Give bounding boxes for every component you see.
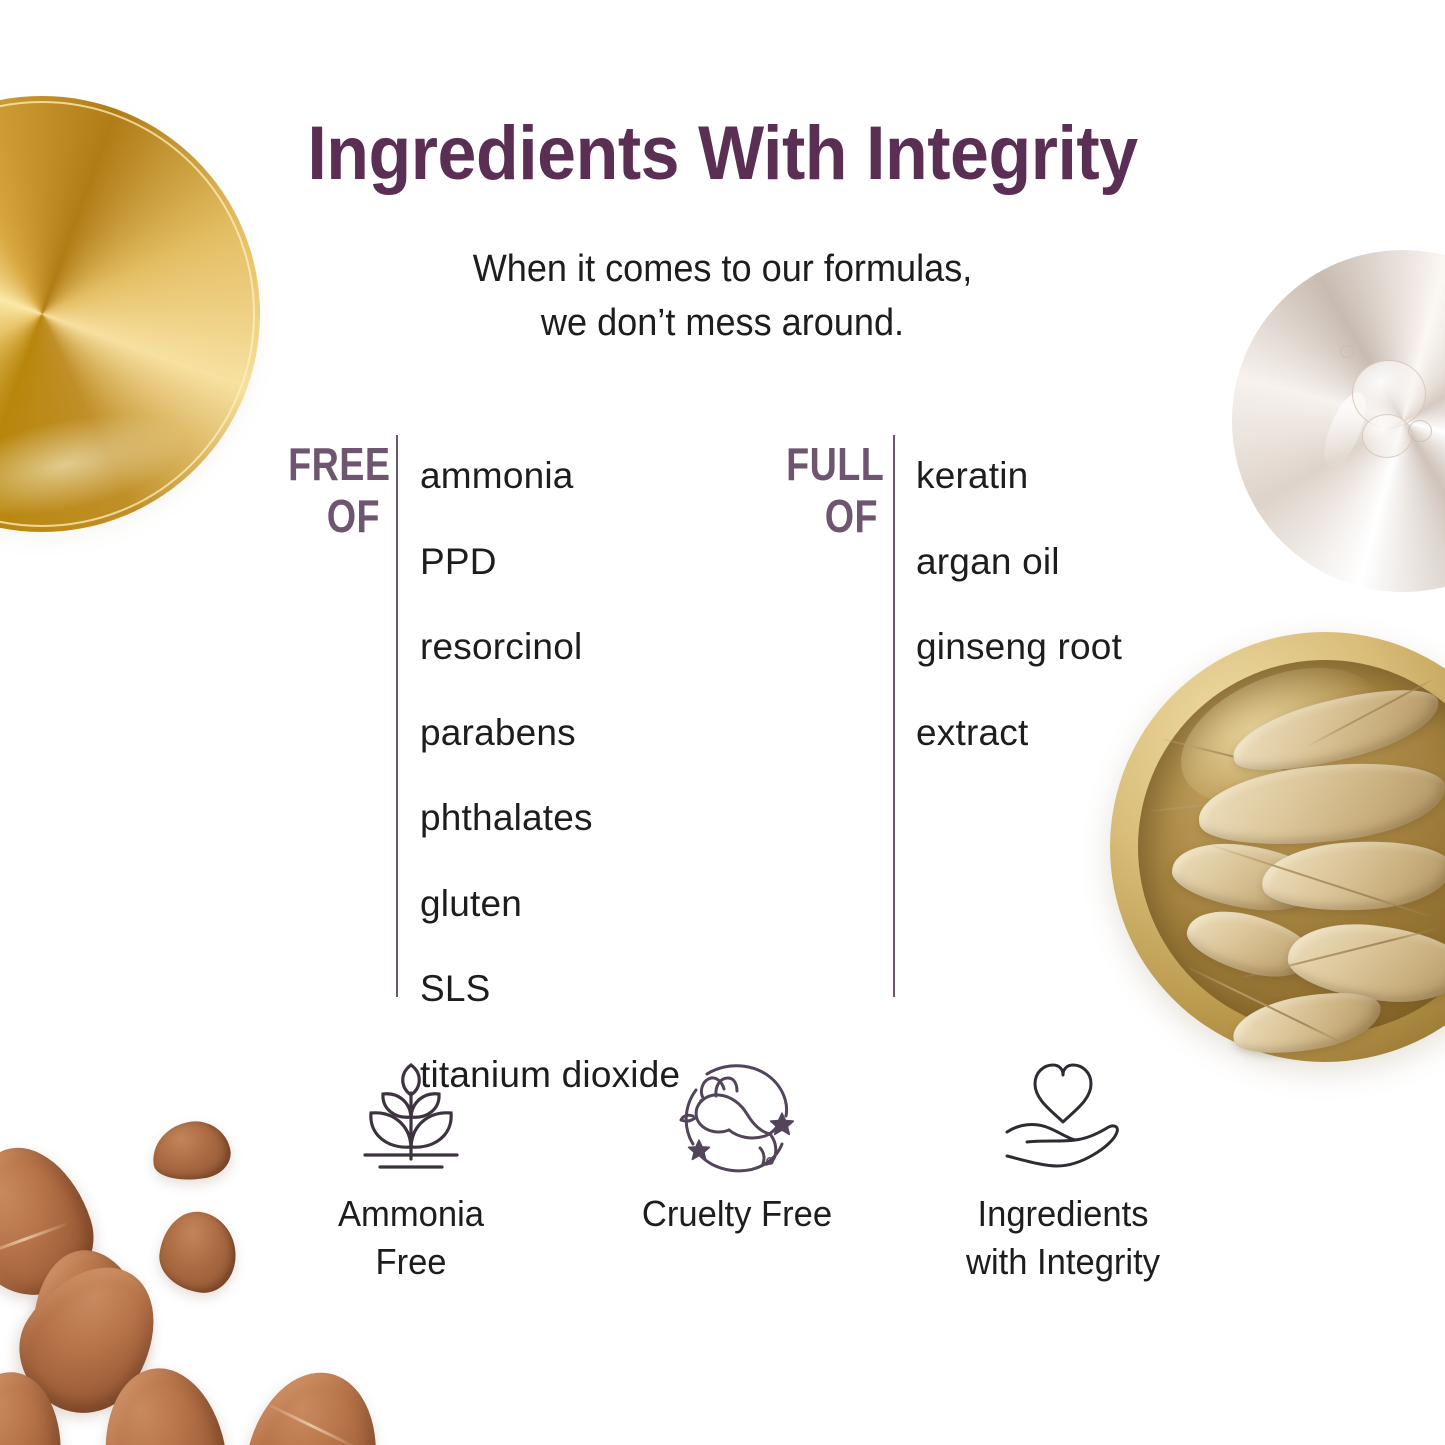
list-item: argan oil <box>916 519 1236 605</box>
list-item: ammonia <box>420 433 840 519</box>
list-item: ginseng root extract <box>916 604 1236 775</box>
page-subtitle-line-1: When it comes to our formulas, <box>36 243 1409 297</box>
badge-label-line-2: Free <box>255 1238 568 1286</box>
ginseng-root <box>1260 837 1445 915</box>
badge-label-ammonia-free: Ammonia Free <box>255 1190 568 1286</box>
badge-ammonia-free: Ammonia Free <box>248 1058 574 1286</box>
argan-shell-fragment <box>155 1208 240 1297</box>
full-of-label-line-1: FULL <box>786 439 878 491</box>
list-item: phthalates <box>420 775 840 861</box>
ginseng-root <box>1168 835 1326 920</box>
argan-nut-seam <box>0 1222 68 1256</box>
list-item: resorcinol <box>420 604 840 690</box>
free-of-divider-line <box>396 435 398 997</box>
badge-label-cruelty-free: Cruelty Free <box>581 1190 894 1238</box>
ginseng-rootlet <box>1150 790 1339 812</box>
free-of-item-list: ammonia PPD resorcinol parabens phthalat… <box>420 433 840 1117</box>
list-item: PPD <box>420 519 840 605</box>
ginseng-rootlet <box>1211 845 1430 918</box>
badge-label-line-1: Cruelty Free <box>581 1190 894 1238</box>
infographic-page: Ingredients With Integrity When it comes… <box>0 0 1445 1445</box>
list-item: gluten <box>420 861 840 947</box>
ginseng-root <box>1284 915 1445 1010</box>
argan-shell-fragment <box>148 1116 234 1185</box>
full-of-divider-line <box>893 435 895 997</box>
ginseng-root <box>1228 983 1385 1062</box>
list-item: keratin <box>916 433 1236 519</box>
argan-nut <box>0 1240 184 1435</box>
badge-label-ingredients-with-integrity: Ingredients with Integrity <box>907 1190 1220 1286</box>
list-item: SLS <box>420 946 840 1032</box>
page-subtitle-line-2: we don’t mess around. <box>36 297 1409 351</box>
argan-nut-seam <box>266 1403 355 1445</box>
ginseng-rootlet <box>1308 679 1433 747</box>
heart-in-hand-icon <box>900 1058 1226 1180</box>
ginseng-rootlet <box>1188 967 1342 1044</box>
gel-bubble-small <box>1408 420 1432 442</box>
ginseng-rootlet <box>1243 928 1438 979</box>
argan-nut <box>236 1360 393 1445</box>
badge-ingredients-with-integrity: Ingredients with Integrity <box>900 1058 1226 1286</box>
page-subtitle: When it comes to our formulas, we don’t … <box>36 243 1409 351</box>
free-of-label-line-2: OF <box>288 491 380 543</box>
badge-label-line-2: with Integrity <box>907 1238 1220 1286</box>
argan-nut <box>94 1360 234 1445</box>
gel-sheen-highlight <box>1316 387 1374 472</box>
leaping-bunny-icon <box>574 1058 900 1180</box>
list-item: parabens <box>420 690 840 776</box>
argan-nut <box>25 1244 154 1401</box>
full-of-label-line-2: OF <box>786 491 878 543</box>
sprout-plant-icon <box>248 1058 574 1180</box>
badge-cruelty-free: Cruelty Free <box>574 1058 900 1286</box>
certification-badges: Ammonia Free <box>248 1058 1228 1286</box>
yellow-oil-gloss-highlight <box>0 395 197 535</box>
ginseng-root <box>1181 899 1319 988</box>
argan-nut <box>0 1367 69 1445</box>
free-of-label-line-1: FREE <box>288 439 380 491</box>
page-title: Ingredients With Integrity <box>58 110 1387 197</box>
full-of-item-list: keratin argan oil ginseng root extract <box>916 433 1236 775</box>
ginseng-root <box>1226 675 1445 785</box>
badge-label-line-1: Ammonia <box>255 1190 568 1238</box>
gel-bubble-large <box>1352 360 1426 428</box>
full-of-label: FULL OF <box>786 439 878 542</box>
free-of-label: FREE OF <box>288 439 380 542</box>
gel-bubble-medium <box>1362 414 1412 458</box>
argan-nut <box>0 1131 108 1310</box>
badge-label-line-1: Ingredients <box>907 1190 1220 1238</box>
argan-nut-seam <box>42 1315 128 1324</box>
